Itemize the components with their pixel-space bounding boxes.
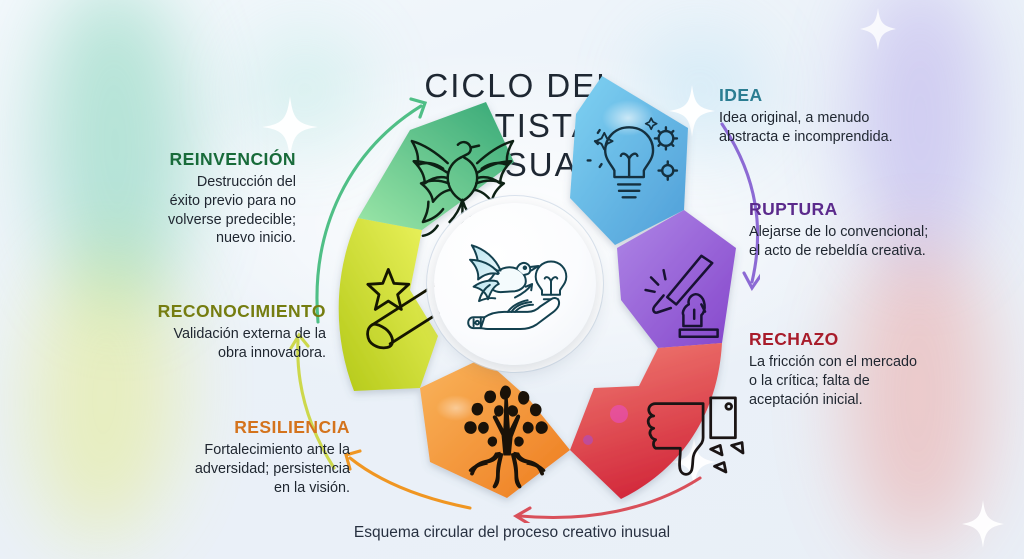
- callout-reinvencion: REINVENCIÓN Destrucción del éxito previo…: [120, 150, 296, 248]
- callout-rechazo: RECHAZO La fricción con el mercado o la …: [749, 330, 981, 409]
- callout-desc-reinvencion: Destrucción del éxito previo para no vol…: [120, 173, 296, 248]
- callout-reconocimiento: RECONOCIMIENTO Validación externa de la …: [86, 302, 326, 363]
- callout-resiliencia: RESILIENCIA Fortalecimiento ante la adve…: [140, 418, 350, 497]
- segment-reconocimiento: [339, 218, 438, 391]
- callout-desc-resiliencia: Fortalecimiento ante la adversidad; pers…: [140, 441, 350, 497]
- callout-idea: IDEA Idea original, a menudo abstracta e…: [719, 86, 965, 147]
- callout-ruptura: RUPTURA Alejarse de lo convencional; el …: [749, 200, 981, 261]
- callout-title-resiliencia: RESILIENCIA: [140, 418, 350, 437]
- callout-desc-ruptura: Alejarse de lo convencional; el acto de …: [749, 223, 981, 260]
- callout-title-idea: IDEA: [719, 86, 965, 105]
- callout-title-ruptura: RUPTURA: [749, 200, 981, 219]
- callout-title-rechazo: RECHAZO: [749, 330, 981, 349]
- figure-caption: Esquema circular del proceso creativo in…: [0, 524, 1024, 542]
- callout-desc-reconocimiento: Validación externa de la obra innovadora…: [86, 325, 326, 362]
- callout-title-reinvencion: REINVENCIÓN: [120, 150, 296, 169]
- segment-rechazo: [570, 343, 722, 499]
- callout-title-reconocimiento: RECONOCIMIENTO: [86, 302, 326, 321]
- center-hub: [434, 203, 596, 365]
- dove-lightbulb-hand-icon: [461, 236, 569, 332]
- callout-desc-rechazo: La fricción con el mercado o la crítica;…: [749, 353, 981, 409]
- callout-desc-idea: Idea original, a menudo abstracta e inco…: [719, 109, 965, 146]
